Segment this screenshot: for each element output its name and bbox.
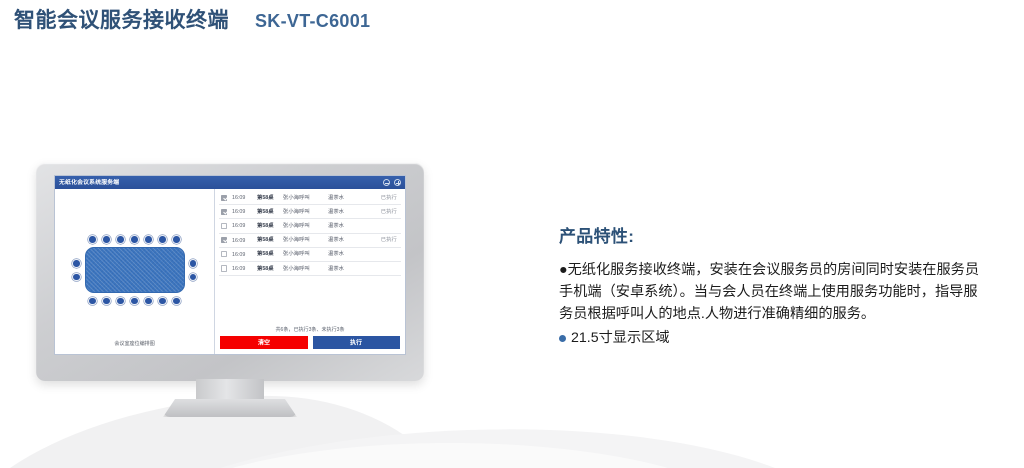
feature-item-display-label: 21.5寸显示区域 (571, 327, 670, 349)
call-time-text: 16:09 (232, 209, 245, 215)
call-table: 第58桌 (257, 266, 278, 272)
seat-col-left (72, 259, 81, 281)
row-status-badge: 已执行 (383, 237, 397, 243)
call-list-row[interactable]: 16:09第58桌张小海呼叫温茶水已执行 (219, 191, 401, 205)
background-swoosh-3 (150, 443, 750, 468)
features-heading: 产品特性: (559, 222, 989, 247)
call-service: 温茶水 (328, 195, 362, 201)
call-time: 16:09 (232, 266, 252, 271)
call-time-text: 16:09 (232, 195, 245, 201)
seat[interactable] (144, 297, 153, 306)
monitor-bezel: 无纸化会议系统服务端 (36, 163, 424, 381)
window-controls (383, 179, 401, 186)
call-table-text: 第58桌 (257, 251, 274, 258)
call-time-text: 16:09 (232, 251, 245, 257)
row-checkbox[interactable] (221, 223, 227, 229)
call-caller: 张小海呼叫 (283, 209, 323, 215)
call-table: 第58桌 (257, 251, 278, 257)
call-caller-text: 张小海呼叫 (283, 222, 310, 229)
minimize-icon[interactable] (383, 179, 390, 186)
call-time: 16:09 (232, 238, 252, 243)
row-status-text: 已执行 (381, 194, 397, 201)
call-service-text: 温茶水 (328, 237, 344, 244)
row-checkbox[interactable] (221, 265, 227, 271)
call-table-text: 第58桌 (257, 222, 274, 229)
background-swoosh-2 (88, 417, 852, 468)
seat[interactable] (72, 273, 81, 282)
seat-row-top (88, 235, 181, 244)
call-service: 温茶水 (328, 237, 362, 243)
feature-item-description: ●无纸化服务接收终端，安装在会议服务员的房间同时安装在服务员手机端（安卓系统）。… (559, 259, 989, 325)
call-service-text: 温茶水 (328, 208, 344, 215)
row-checkbox[interactable] (221, 209, 227, 215)
call-time-text: 16:09 (232, 237, 245, 243)
action-button-row: 清空 执行 (219, 336, 401, 350)
call-caller-text: 张小海呼叫 (283, 251, 310, 258)
call-table: 第58桌 (257, 223, 278, 229)
table-with-side-seats (72, 247, 197, 293)
product-features: 产品特性: ●无纸化服务接收终端，安装在会议服务员的房间同时安装在服务员手机端（… (559, 222, 989, 351)
row-status-badge: 已执行 (383, 195, 397, 201)
list-summary-text: 共6条，已执行3条、未执行3条 (275, 327, 344, 334)
call-table: 第58桌 (257, 195, 278, 201)
call-caller: 张小海呼叫 (283, 237, 323, 243)
seat[interactable] (189, 273, 198, 282)
call-service: 温茶水 (328, 266, 362, 272)
call-time-text: 16:09 (232, 223, 245, 229)
clear-button-label: 清空 (258, 338, 270, 346)
seat[interactable] (72, 259, 81, 268)
row-status-badge: 已执行 (383, 209, 397, 215)
call-service: 温茶水 (328, 251, 362, 257)
seat-row-bottom (88, 297, 181, 306)
call-list-row[interactable]: 16:09第58桌张小海呼叫温茶水 (219, 219, 401, 233)
monitor-base (163, 399, 297, 417)
call-caller-text: 张小海呼叫 (283, 265, 310, 272)
row-status-text: 已执行 (381, 237, 397, 244)
call-caller: 张小海呼叫 (283, 223, 323, 229)
call-time: 16:09 (232, 223, 252, 228)
monitor-chin (54, 355, 406, 373)
seat[interactable] (116, 297, 125, 306)
list-summary: 共6条，已执行3条、未执行3条 (219, 324, 401, 336)
call-list-row[interactable]: 16:09第58桌张小海呼叫温茶水已执行 (219, 234, 401, 248)
seat[interactable] (102, 297, 111, 306)
seat[interactable] (158, 235, 167, 244)
seat-col-right (189, 259, 198, 281)
seat[interactable] (116, 235, 125, 244)
seat[interactable] (102, 235, 111, 244)
app-body: 会议室座位编排图 16:09第58桌张小海呼叫温茶水已执行16:09第58桌张小… (55, 189, 405, 354)
call-table-text: 第58桌 (257, 265, 274, 272)
call-list-row[interactable]: 16:09第58桌张小海呼叫温茶水已执行 (219, 205, 401, 219)
call-caller-text: 张小海呼叫 (283, 194, 310, 201)
call-caller: 张小海呼叫 (283, 195, 323, 201)
call-caller: 张小海呼叫 (283, 251, 323, 257)
close-icon[interactable] (394, 179, 401, 186)
call-time: 16:09 (232, 252, 252, 257)
monitor-mockup: 无纸化会议系统服务端 (36, 163, 424, 408)
call-service-text: 温茶水 (328, 222, 344, 229)
call-service-text: 温茶水 (328, 251, 344, 258)
row-checkbox[interactable] (221, 195, 227, 201)
call-table-text: 第58桌 (257, 237, 274, 244)
seating-pane: 会议室座位编排图 (55, 189, 215, 354)
row-checkbox[interactable] (221, 237, 227, 243)
call-list-row[interactable]: 16:09第58桌张小海呼叫温茶水 (219, 262, 401, 276)
call-caller-text: 张小海呼叫 (283, 237, 310, 244)
seat[interactable] (88, 235, 97, 244)
call-caller: 张小海呼叫 (283, 266, 323, 272)
seat[interactable] (189, 259, 198, 268)
seating-diagram (61, 199, 208, 341)
app-titlebar: 无纸化会议系统服务端 (55, 176, 405, 189)
seat[interactable] (172, 235, 181, 244)
conference-table (85, 247, 185, 293)
row-status-text: 已执行 (381, 208, 397, 215)
call-time: 16:09 (232, 195, 252, 200)
call-list-pane: 16:09第58桌张小海呼叫温茶水已执行16:09第58桌张小海呼叫温茶水已执行… (215, 189, 405, 354)
product-model: SK-VT-C6001 (255, 11, 370, 32)
monitor-screen: 无纸化会议系统服务端 (54, 175, 406, 355)
seat[interactable] (158, 297, 167, 306)
call-table: 第58桌 (257, 209, 278, 215)
row-checkbox[interactable] (221, 251, 227, 257)
call-service: 温茶水 (328, 223, 362, 229)
page-header: 智能会议服务接收终端 SK-VT-C6001 (14, 10, 370, 32)
seat[interactable] (130, 297, 139, 306)
call-table-text: 第58桌 (257, 208, 274, 215)
seating-caption: 会议室座位编排图 (114, 341, 154, 348)
call-caller-text: 张小海呼叫 (283, 208, 310, 215)
app-window-title: 无纸化会议系统服务端 (59, 179, 119, 187)
call-table-text: 第58桌 (257, 194, 274, 201)
feature-item-display: 21.5寸显示区域 (559, 327, 989, 349)
call-time-text: 16:09 (232, 266, 245, 272)
seat[interactable] (88, 297, 97, 306)
seat[interactable] (130, 235, 139, 244)
execute-button[interactable]: 执行 (313, 336, 401, 349)
seat[interactable] (144, 235, 153, 244)
page-title: 智能会议服务接收终端 (14, 10, 229, 31)
bullet-dot-icon (559, 335, 566, 342)
clear-button[interactable]: 清空 (220, 336, 308, 349)
app-window: 无纸化会议系统服务端 (54, 175, 406, 355)
call-service-text: 温茶水 (328, 265, 344, 272)
seat[interactable] (172, 297, 181, 306)
call-table: 第58桌 (257, 237, 278, 243)
call-list: 16:09第58桌张小海呼叫温茶水已执行16:09第58桌张小海呼叫温茶水已执行… (219, 189, 401, 324)
call-service-text: 温茶水 (328, 194, 344, 201)
call-time: 16:09 (232, 209, 252, 214)
call-list-row[interactable]: 16:09第58桌张小海呼叫温茶水 (219, 248, 401, 262)
page-root: 智能会议服务接收终端 SK-VT-C6001 无纸化会议系统服务端 (0, 0, 1024, 468)
call-service: 温茶水 (328, 209, 362, 215)
execute-button-label: 执行 (350, 338, 362, 346)
